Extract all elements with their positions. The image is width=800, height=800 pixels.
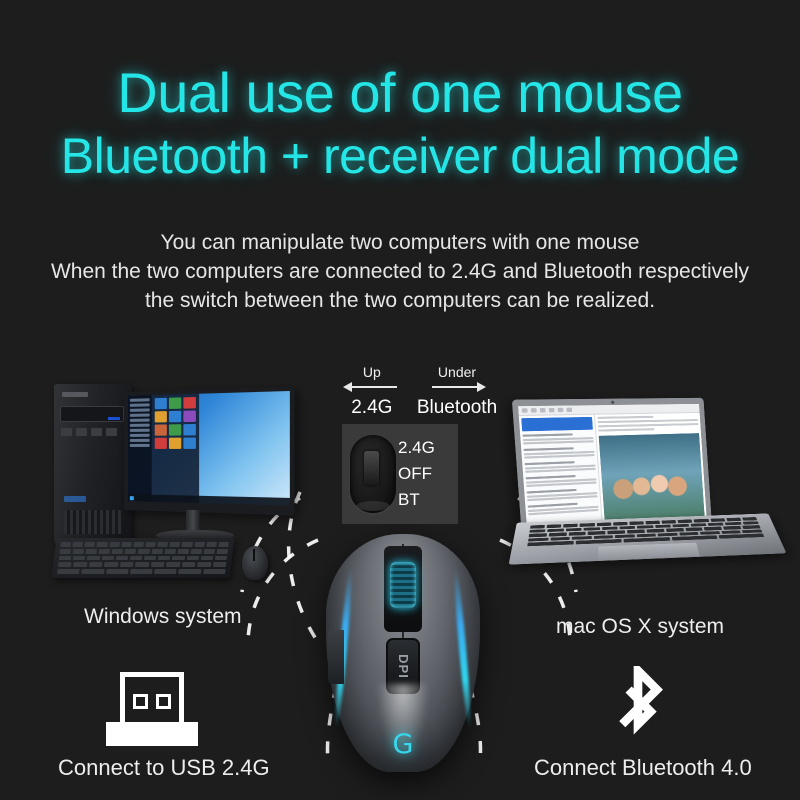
legend-mode-bluetooth: Bluetooth: [417, 396, 497, 420]
subtitle-line-2: When the two computers are connected to …: [0, 257, 800, 286]
legend-under-label: Under: [438, 364, 476, 380]
mode-switch-panel: 2.4G OFF BT: [342, 424, 458, 524]
mouse-side-buttons: [328, 630, 344, 684]
legend-mode-24g: 2.4G: [351, 396, 392, 420]
macbook-keyboard-base: [509, 513, 787, 564]
switch-option-bt: BT: [398, 491, 458, 509]
macbook-artwork: [512, 392, 792, 602]
legend-up-24g: Up 2.4G: [343, 364, 401, 424]
switch-option-off: OFF: [398, 465, 458, 483]
mouse-body: DPI G: [326, 534, 480, 772]
legend-up-label: Up: [363, 364, 381, 380]
caption-connect-usb: Connect to USB 2.4G: [58, 755, 270, 781]
windows-desktop-artwork: [42, 378, 292, 593]
subtitle-line-3: the switch between the two computers can…: [0, 286, 800, 315]
caption-connect-bluetooth: Connect Bluetooth 4.0: [534, 755, 752, 781]
dpi-button-label: DPI: [395, 654, 410, 679]
product-feature-banner: Dual use of one mouse Bluetooth + receiv…: [0, 0, 800, 800]
switch-option-labels: 2.4G OFF BT: [396, 424, 458, 524]
headline-line-1: Dual use of one mouse: [0, 62, 800, 124]
wireless-mouse-product: DPI G: [318, 524, 488, 774]
mouse-led-strip-right: [452, 568, 473, 728]
subtitle-block: You can manipulate two computers with on…: [0, 228, 800, 315]
caption-macos-system: mac OS X system: [556, 615, 724, 639]
switch-option-24g: 2.4G: [398, 439, 458, 457]
subtitle-line-1: You can manipulate two computers with on…: [0, 228, 800, 257]
pc-tower-icon: [54, 384, 132, 544]
pc-keyboard-icon: [52, 538, 235, 578]
bluetooth-icon: [596, 666, 680, 754]
mouse-scroll-wheel: [390, 562, 416, 608]
legend-under-bluetooth: Under Bluetooth: [417, 364, 497, 424]
switch-direction-legend: Up 2.4G Under Bluetooth: [330, 364, 510, 424]
mouse-brand-logo: G: [388, 730, 418, 760]
pc-mouse-icon: [242, 546, 268, 580]
caption-windows-system: Windows system: [84, 605, 242, 629]
three-position-slider-switch-icon[interactable]: [350, 435, 396, 513]
headline-line-2: Bluetooth + receiver dual mode: [0, 127, 800, 185]
pc-monitor-icon: [124, 392, 284, 510]
left-arrow-icon: [343, 380, 401, 394]
right-arrow-icon: [428, 380, 486, 394]
usb-receiver-icon: [106, 672, 202, 746]
